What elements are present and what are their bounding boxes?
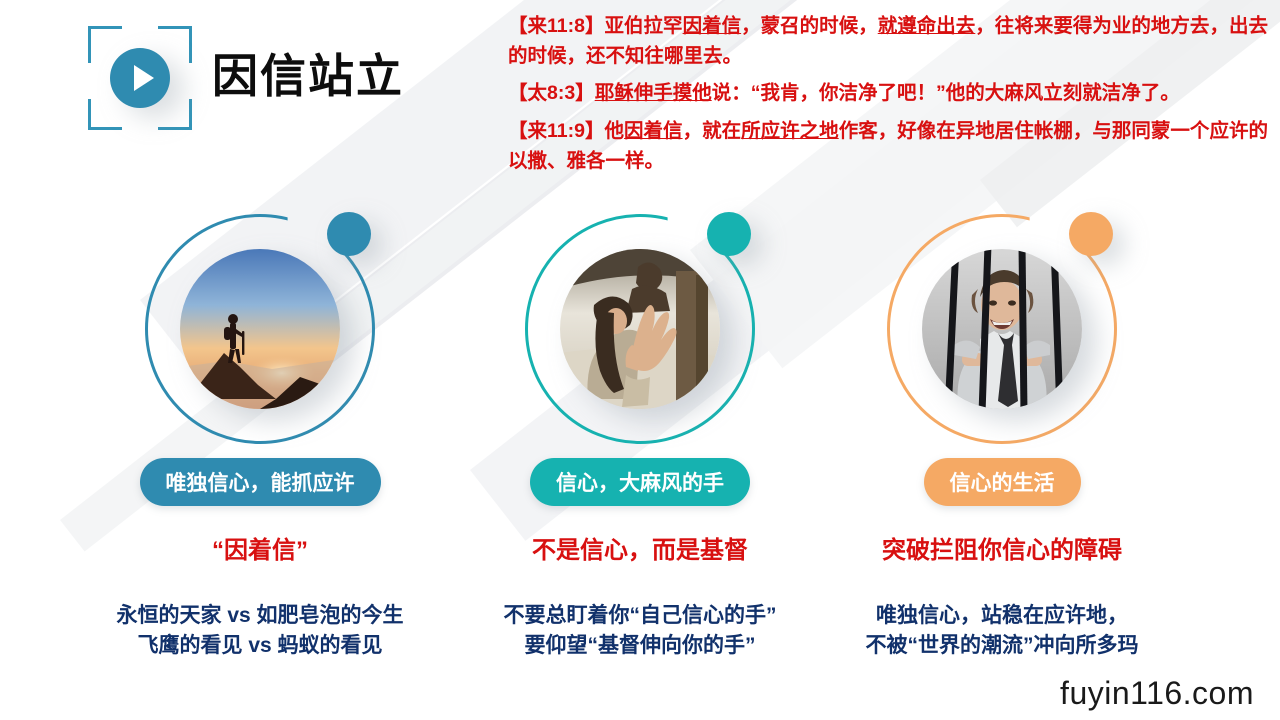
- play-triangle-icon: [134, 65, 154, 91]
- logo-play-button-icon: [88, 26, 192, 130]
- circle-graphic: [145, 214, 375, 444]
- play-circle-icon: [110, 48, 170, 108]
- circle-graphic: [887, 214, 1117, 444]
- page-title: 因信站立: [212, 40, 404, 106]
- pill-label: 唯独信心，能抓应许: [140, 458, 381, 506]
- circle-graphic: [525, 214, 755, 444]
- column-notes: 永恒的天家 vs 如肥皂泡的今生 飞鹰的看见 vs 蚂蚁的看见: [80, 601, 440, 662]
- note-line: 不要总盯着你“自己信心的手”: [460, 601, 820, 631]
- note-line: 要仰望“基督伸向你的手”: [460, 631, 820, 661]
- column-life-of-faith: 信心的生活 突破拦阻你信心的障碍 唯独信心，站稳在应许地， 不被“世界的潮流”冲…: [822, 214, 1182, 662]
- column-notes: 不要总盯着你“自己信心的手” 要仰望“基督伸向你的手”: [460, 601, 820, 662]
- column-notes: 唯独信心，站稳在应许地， 不被“世界的潮流”冲向所多玛: [822, 601, 1182, 662]
- note-line: 唯独信心，站稳在应许地，: [822, 601, 1182, 631]
- pill-label: 信心，大麻风的手: [530, 458, 750, 506]
- scripture-verse: 【太8:3】耶稣伸手摸他说：“我肯，你洁净了吧！”他的大麻风立刻就洁净了。: [508, 79, 1268, 109]
- scripture-verse: 【来11:9】他因着信，就在所应许之地作客，好像在异地居住帐棚，与那同蒙一个应许…: [508, 117, 1268, 176]
- column-faith-leper-hand: 信心，大麻风的手 不是信心，而是基督 不要总盯着你“自己信心的手” 要仰望“基督…: [460, 214, 820, 662]
- column-faith-grasps-promise: 唯独信心，能抓应许 “因着信” 永恒的天家 vs 如肥皂泡的今生 飞鹰的看见 v…: [80, 214, 440, 662]
- photo-man-behind-prison-bars: [922, 249, 1082, 409]
- slide-canvas: 因信站立 【来11:8】亚伯拉罕因着信，蒙召的时候，就遵命出去，往将来要得为业的…: [0, 0, 1280, 720]
- accent-dot: [1069, 212, 1113, 256]
- column-subtitle: “因着信”: [80, 530, 440, 565]
- accent-dot: [327, 212, 371, 256]
- note-line: 永恒的天家 vs 如肥皂泡的今生: [80, 601, 440, 631]
- column-subtitle: 不是信心，而是基督: [460, 530, 820, 565]
- note-line: 不被“世界的潮流”冲向所多玛: [822, 631, 1182, 661]
- scripture-block: 【来11:8】亚伯拉罕因着信，蒙召的时候，就遵命出去，往将来要得为业的地方去，出…: [508, 12, 1268, 184]
- content-columns: 唯独信心，能抓应许 “因着信” 永恒的天家 vs 如肥皂泡的今生 飞鹰的看见 v…: [0, 214, 1280, 514]
- photo-hiker-on-mountain-sunrise: [180, 249, 340, 409]
- pill-label: 信心的生活: [924, 458, 1081, 506]
- photo-woman-reaching-hands-to-jesus: [560, 249, 720, 409]
- column-subtitle: 突破拦阻你信心的障碍: [822, 530, 1182, 565]
- scripture-verse: 【来11:8】亚伯拉罕因着信，蒙召的时候，就遵命出去，往将来要得为业的地方去，出…: [508, 12, 1268, 71]
- watermark: fuyin116.com: [1060, 675, 1254, 712]
- note-line: 飞鹰的看见 vs 蚂蚁的看见: [80, 631, 440, 661]
- accent-dot: [707, 212, 751, 256]
